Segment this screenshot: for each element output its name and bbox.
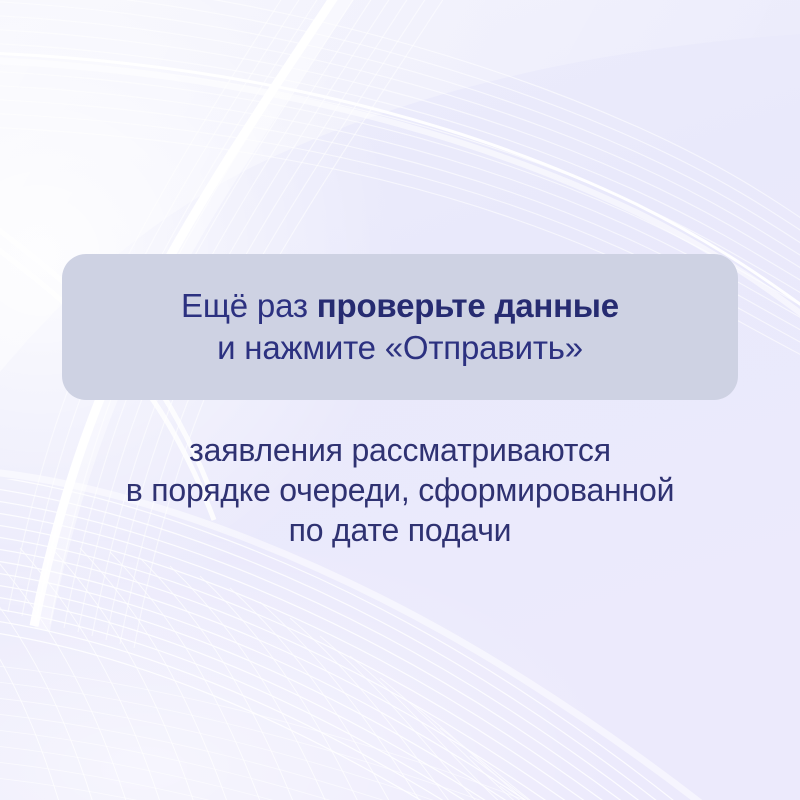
callout-line-1: Ещё раз проверьте данные bbox=[181, 285, 619, 327]
swoosh-curve-left bbox=[0, 0, 800, 800]
callout-line-1-bold: проверьте данные bbox=[317, 287, 619, 324]
swoosh-curve-top bbox=[0, 0, 800, 800]
line-fan-bottom bbox=[0, 0, 800, 800]
paragraph-block: заявления рассматриваются в порядке очер… bbox=[0, 430, 800, 550]
callout-line-1-regular: Ещё раз bbox=[181, 287, 317, 324]
background-gradient bbox=[0, 0, 800, 800]
paragraph-line-1: заявления рассматриваются bbox=[0, 430, 800, 470]
callout-line-2: и нажмите «Отправить» bbox=[217, 327, 583, 369]
paragraph-line-3: по дате подачи bbox=[0, 510, 800, 550]
paragraph-line-2: в порядке очереди, сформированной bbox=[0, 470, 800, 510]
banner-canvas: Ещё раз проверьте данные и нажмите «Отпр… bbox=[0, 0, 800, 800]
callout-box: Ещё раз проверьте данные и нажмите «Отпр… bbox=[62, 254, 738, 400]
